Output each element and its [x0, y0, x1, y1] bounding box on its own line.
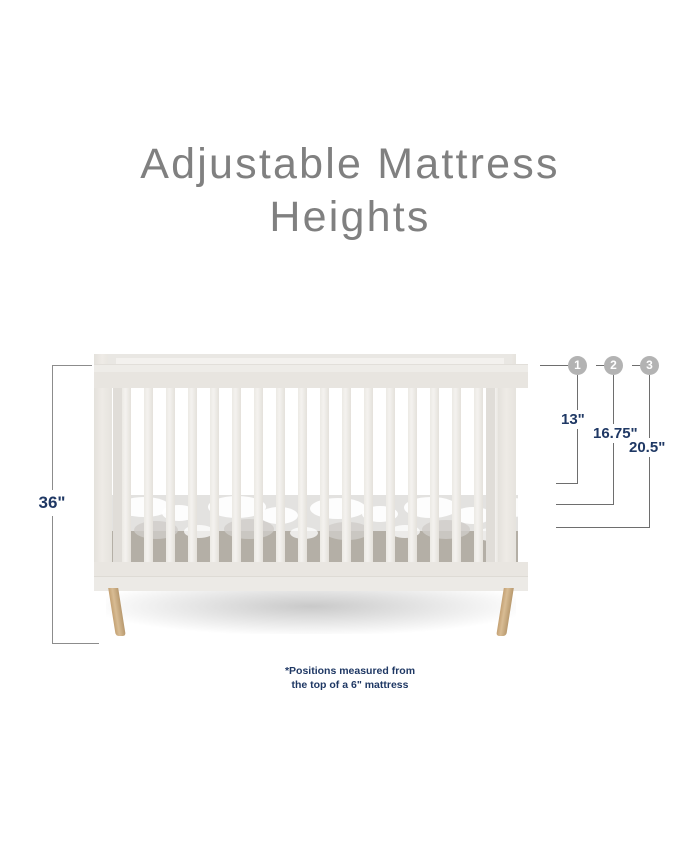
height-dimension-label: 36": [20, 490, 84, 516]
position-badge-3[interactable]: 3: [640, 356, 659, 375]
callout-1-lead-in: [540, 365, 568, 366]
callout-3-lead-jog: [556, 527, 650, 528]
crib-rail-top-face: [94, 372, 528, 388]
crib-post-inner-right: [486, 382, 495, 562]
position-measurement-3: 20.5": [626, 438, 668, 457]
footnote: *Positions measured from the top of a 6"…: [0, 664, 700, 692]
height-dimension-tick-top: [52, 365, 92, 366]
mattress-heights-infographic: Adjustable Mattress Heights: [0, 0, 700, 855]
page-title: Adjustable Mattress Heights: [0, 138, 700, 244]
callout-2-lead-jog: [556, 504, 614, 505]
page-title-line-1: Adjustable Mattress: [0, 138, 700, 191]
crib-base-skirt: [94, 576, 528, 591]
position-badge-2[interactable]: 2: [604, 356, 623, 375]
position-badge-1[interactable]: 1: [568, 356, 587, 375]
height-dimension-tick-bottom: [52, 643, 99, 644]
callout-1-lead-jog: [556, 483, 578, 484]
crib-floor-shadow: [106, 588, 516, 634]
footnote-line-2: the top of a 6" mattress: [0, 678, 700, 692]
crib-slats: [122, 386, 500, 562]
callout-1-lead-vertical: [577, 375, 578, 483]
position-measurement-1: 13": [558, 410, 588, 429]
page-title-line-2: Heights: [0, 191, 700, 244]
crib-post-inner-left: [113, 382, 122, 562]
crib-illustration: [82, 352, 540, 652]
footnote-line-1: *Positions measured from: [0, 664, 700, 678]
